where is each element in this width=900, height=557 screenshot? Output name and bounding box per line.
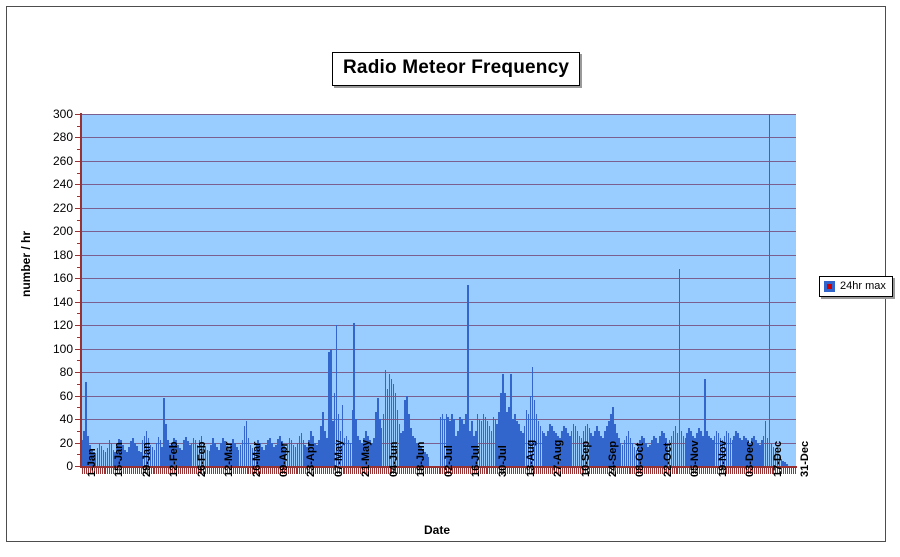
x-axis-day-tick xyxy=(209,468,210,474)
legend-label: 24hr max xyxy=(840,280,886,292)
y-axis-tick xyxy=(75,137,81,138)
x-axis-tick-label: 15-Jan xyxy=(113,442,125,477)
x-axis-day-tick xyxy=(186,468,187,474)
y-axis-minor-tick xyxy=(77,313,81,314)
y-axis-tick-label: 280 xyxy=(33,131,73,143)
x-axis-day-tick xyxy=(462,468,463,474)
x-axis-day-tick xyxy=(319,468,320,474)
x-axis-day-tick xyxy=(738,468,739,474)
x-axis-day-tick xyxy=(652,468,653,474)
y-axis-tick-label: 0 xyxy=(33,460,73,472)
x-axis-day-tick xyxy=(158,468,159,474)
x-axis-day-tick xyxy=(597,468,598,474)
x-axis-day-tick xyxy=(572,468,573,474)
x-axis-day-tick xyxy=(323,468,324,474)
x-axis-day-tick xyxy=(348,468,349,474)
y-axis-tick xyxy=(75,466,81,467)
x-axis-day-tick xyxy=(468,468,469,474)
x-axis-day-tick xyxy=(742,468,743,474)
x-axis-day-tick xyxy=(213,468,214,474)
x-axis-tick-label: 18-Jun xyxy=(415,442,427,477)
x-axis-day-tick xyxy=(703,468,704,474)
legend-marker-icon xyxy=(824,281,835,292)
x-axis-day-tick xyxy=(350,468,351,474)
x-axis-day-tick xyxy=(346,468,347,474)
x-axis-day-tick xyxy=(266,468,267,474)
x-axis-day-tick xyxy=(276,468,277,474)
x-axis-day-tick xyxy=(431,468,432,474)
x-axis-day-tick xyxy=(519,468,520,474)
x-axis-day-tick xyxy=(125,468,126,474)
bar xyxy=(769,114,771,466)
x-axis-day-tick xyxy=(162,468,163,474)
x-axis-day-tick xyxy=(458,468,459,474)
x-axis-day-tick xyxy=(154,468,155,474)
x-axis-day-tick xyxy=(268,468,269,474)
y-axis-tick xyxy=(75,161,81,162)
x-axis-day-tick xyxy=(215,468,216,474)
x-axis-day-tick xyxy=(658,468,659,474)
x-axis-day-tick xyxy=(190,468,191,474)
x-axis-day-tick xyxy=(660,468,661,474)
x-axis-day-tick xyxy=(732,468,733,474)
x-axis-day-tick xyxy=(787,468,788,474)
y-axis-tick-label: 200 xyxy=(33,225,73,237)
x-axis-day-tick xyxy=(711,468,712,474)
x-axis-tick-label: 04-Jun xyxy=(388,442,400,477)
x-axis-day-tick xyxy=(740,468,741,474)
x-axis-day-tick xyxy=(576,468,577,474)
x-axis-day-tick xyxy=(521,468,522,474)
y-axis-tick xyxy=(75,114,81,115)
x-axis-day-tick xyxy=(247,468,248,474)
y-axis-minor-tick xyxy=(77,149,81,150)
x-axis-tick-label: 31-Dec xyxy=(799,441,811,477)
x-axis-day-tick xyxy=(734,468,735,474)
x-axis-day-tick xyxy=(327,468,328,474)
x-axis-day-tick xyxy=(486,468,487,474)
x-axis-day-tick xyxy=(356,468,357,474)
x-axis-day-tick xyxy=(683,468,684,474)
x-axis-day-tick xyxy=(795,468,796,474)
x-axis-day-tick xyxy=(509,468,510,474)
x-axis-tick-label: 29-Jan xyxy=(141,442,153,477)
x-axis-day-tick xyxy=(707,468,708,474)
x-axis-day-tick xyxy=(566,468,567,474)
y-axis-tick-label: 220 xyxy=(33,202,73,214)
y-axis-minor-tick xyxy=(77,454,81,455)
x-axis-day-tick xyxy=(511,468,512,474)
x-axis-day-tick xyxy=(493,468,494,474)
y-axis-title: number / hr xyxy=(19,199,33,329)
x-axis-day-tick xyxy=(433,468,434,474)
y-axis-tick xyxy=(75,443,81,444)
bar-series-24hr-max xyxy=(81,114,796,466)
x-axis-day-tick xyxy=(180,468,181,474)
x-axis-day-tick xyxy=(517,468,518,474)
x-axis-day-tick xyxy=(758,468,759,474)
x-axis-day-tick xyxy=(325,468,326,474)
x-axis-day-tick xyxy=(384,468,385,474)
y-axis-tick-label: 80 xyxy=(33,366,73,378)
x-axis-day-tick xyxy=(329,468,330,474)
x-axis-day-tick xyxy=(685,468,686,474)
x-axis-day-tick xyxy=(648,468,649,474)
x-axis-day-tick xyxy=(713,468,714,474)
x-axis-day-tick xyxy=(491,468,492,474)
x-axis-day-tick xyxy=(578,468,579,474)
x-axis-tick-label: 08-Oct xyxy=(634,443,646,477)
x-axis-tick-label: 27-Aug xyxy=(552,440,564,477)
y-axis-minor-tick xyxy=(77,267,81,268)
x-axis-day-tick xyxy=(248,468,249,474)
x-axis-day-tick xyxy=(331,468,332,474)
y-axis-tick-label: 100 xyxy=(33,343,73,355)
x-axis-day-tick xyxy=(137,468,138,474)
y-axis-minor-tick xyxy=(77,196,81,197)
x-axis-day-tick xyxy=(221,468,222,474)
x-axis-day-tick xyxy=(237,468,238,474)
x-axis-day-tick xyxy=(405,468,406,474)
x-axis-day-tick xyxy=(621,468,622,474)
x-axis-day-tick xyxy=(429,468,430,474)
x-axis-day-tick xyxy=(570,468,571,474)
y-axis-tick xyxy=(75,302,81,303)
x-axis-day-tick xyxy=(386,468,387,474)
x-axis-tick-label: 05-Nov xyxy=(689,440,701,477)
x-axis-day-tick xyxy=(317,468,318,474)
x-axis-day-tick xyxy=(217,468,218,474)
x-axis-day-tick xyxy=(403,468,404,474)
x-axis-tick-label: 10-Sep xyxy=(580,441,592,477)
x-axis-day-tick xyxy=(129,468,130,474)
x-axis-day-tick xyxy=(464,468,465,474)
x-axis-day-tick xyxy=(542,468,543,474)
x-axis-tick-label: 13-Aug xyxy=(525,440,537,477)
y-axis-minor-tick xyxy=(77,126,81,127)
x-axis-day-tick xyxy=(164,468,165,474)
x-axis-day-tick xyxy=(601,468,602,474)
x-axis-day-tick xyxy=(523,468,524,474)
x-axis-day-tick xyxy=(109,468,110,474)
x-axis-tick-label: 24-Sep xyxy=(607,441,619,477)
x-axis-day-tick xyxy=(411,468,412,474)
x-axis-day-tick xyxy=(380,468,381,474)
x-axis-day-tick xyxy=(715,468,716,474)
bar xyxy=(428,457,430,466)
x-axis-day-tick xyxy=(372,468,373,474)
x-axis-day-tick xyxy=(623,468,624,474)
x-axis-tick-label: 12-Feb xyxy=(168,442,180,477)
x-axis-day-tick xyxy=(131,468,132,474)
y-axis-tick xyxy=(75,231,81,232)
x-axis-day-tick xyxy=(709,468,710,474)
x-axis-day-tick xyxy=(194,468,195,474)
chart-frame: Radio Meteor Frequency 02040608010012014… xyxy=(6,6,886,542)
x-axis-day-tick xyxy=(603,468,604,474)
y-axis-tick-label: 240 xyxy=(33,178,73,190)
x-axis-tick-label: 26-Feb xyxy=(196,442,208,477)
x-axis-day-tick xyxy=(440,468,441,474)
x-axis-day-tick xyxy=(595,468,596,474)
x-axis-day-tick xyxy=(294,468,295,474)
chart-legend: 24hr max xyxy=(819,276,893,297)
y-axis-tick-label: 40 xyxy=(33,413,73,425)
y-axis-minor-tick xyxy=(77,220,81,221)
page-title: Radio Meteor Frequency xyxy=(332,52,580,86)
x-axis-day-tick xyxy=(677,468,678,474)
x-axis-tick-label: 02-Jul xyxy=(443,445,455,477)
x-axis-day-tick xyxy=(760,468,761,474)
x-axis-day-tick xyxy=(785,468,786,474)
y-axis-minor-tick xyxy=(77,290,81,291)
x-axis-day-tick xyxy=(489,468,490,474)
x-axis-tick-label: 22-Oct xyxy=(662,443,674,477)
y-axis-labels: 0204060801001201401601802002202402602803… xyxy=(29,7,73,557)
x-axis-day-tick xyxy=(770,468,771,474)
x-axis-day-tick xyxy=(156,468,157,474)
x-axis-title: Date xyxy=(7,523,867,537)
x-axis-day-tick xyxy=(793,468,794,474)
x-axis-day-tick xyxy=(104,468,105,474)
x-axis-day-tick xyxy=(376,468,377,474)
y-axis-minor-tick xyxy=(77,431,81,432)
x-axis-day-tick xyxy=(764,468,765,474)
x-axis-day-tick xyxy=(466,468,467,474)
y-axis-tick-label: 20 xyxy=(33,437,73,449)
y-axis-minor-tick xyxy=(77,407,81,408)
y-axis-tick xyxy=(75,278,81,279)
x-axis-day-tick xyxy=(182,468,183,474)
x-axis-tick-label: 12-Mar xyxy=(223,442,235,477)
x-axis-tick-label: 09-Apr xyxy=(278,442,290,477)
x-axis-day-tick xyxy=(321,468,322,474)
x-axis-day-tick xyxy=(574,468,575,474)
x-axis-day-tick xyxy=(437,468,438,474)
x-axis-tick-label: 30-Jul xyxy=(497,445,509,477)
x-axis-day-tick xyxy=(564,468,565,474)
x-axis-day-tick xyxy=(292,468,293,474)
x-axis-day-tick xyxy=(676,468,677,474)
x-axis-day-tick xyxy=(568,468,569,474)
x-axis-day-tick xyxy=(654,468,655,474)
x-axis-day-tick xyxy=(382,468,383,474)
y-axis-tick xyxy=(75,419,81,420)
x-axis-day-tick xyxy=(102,468,103,474)
x-axis-day-tick xyxy=(413,468,414,474)
x-axis-day-tick xyxy=(211,468,212,474)
x-axis-day-tick xyxy=(460,468,461,474)
y-axis-tick xyxy=(75,325,81,326)
x-axis-day-tick xyxy=(401,468,402,474)
x-axis-day-tick xyxy=(605,468,606,474)
y-axis-tick xyxy=(75,184,81,185)
x-axis-day-tick xyxy=(374,468,375,474)
x-axis-day-tick xyxy=(107,468,108,474)
x-axis-day-tick xyxy=(768,468,769,474)
x-axis-day-tick xyxy=(484,468,485,474)
x-axis-day-tick xyxy=(625,468,626,474)
x-axis-day-tick xyxy=(192,468,193,474)
y-axis-tick xyxy=(75,255,81,256)
x-axis-day-tick xyxy=(546,468,547,474)
x-axis-day-tick xyxy=(627,468,628,474)
y-axis-tick-label: 140 xyxy=(33,296,73,308)
x-axis-day-tick xyxy=(550,468,551,474)
x-axis-day-tick xyxy=(301,468,302,474)
x-axis-day-tick xyxy=(219,468,220,474)
x-axis-day-tick xyxy=(239,468,240,474)
x-axis-day-tick xyxy=(435,468,436,474)
x-axis-day-tick xyxy=(270,468,271,474)
x-axis-day-tick xyxy=(766,468,767,474)
x-axis-day-tick xyxy=(513,468,514,474)
y-axis-minor-tick xyxy=(77,360,81,361)
x-axis-day-tick xyxy=(730,468,731,474)
x-axis-day-tick xyxy=(354,468,355,474)
y-axis-tick-label: 180 xyxy=(33,249,73,261)
x-axis-tick-label: 19-Nov xyxy=(717,440,729,477)
x-axis-day-tick xyxy=(762,468,763,474)
x-axis-tick-label: 03-Dec xyxy=(744,441,756,477)
x-axis-day-tick xyxy=(188,468,189,474)
x-axis-day-tick xyxy=(139,468,140,474)
x-axis-day-tick xyxy=(245,468,246,474)
x-axis-day-tick xyxy=(407,468,408,474)
x-axis-day-tick xyxy=(789,468,790,474)
x-axis-tick-label: 16-Jul xyxy=(470,445,482,477)
x-axis-day-tick xyxy=(296,468,297,474)
y-axis-minor-tick xyxy=(77,243,81,244)
x-axis-day-tick xyxy=(599,468,600,474)
x-axis-day-tick xyxy=(544,468,545,474)
y-axis-tick-label: 300 xyxy=(33,108,73,120)
x-axis-tick-label: 21-May xyxy=(360,440,372,477)
x-axis-tick-label: 1-Jan xyxy=(86,448,98,477)
y-axis-tick xyxy=(75,396,81,397)
x-axis-day-tick xyxy=(100,468,101,474)
x-axis-day-tick xyxy=(630,468,631,474)
x-axis-day-tick xyxy=(456,468,457,474)
x-axis-day-tick xyxy=(736,468,737,474)
x-axis-day-tick xyxy=(646,468,647,474)
y-axis-tick-label: 260 xyxy=(33,155,73,167)
x-axis-day-tick xyxy=(791,468,792,474)
x-axis-day-tick xyxy=(297,468,298,474)
x-axis-day-tick xyxy=(84,468,85,474)
x-axis-day-tick xyxy=(133,468,134,474)
x-axis-tick-label: 07-May xyxy=(333,440,345,477)
x-axis-day-tick xyxy=(299,468,300,474)
x-axis-day-tick xyxy=(274,468,275,474)
plot-area xyxy=(81,114,796,466)
x-axis-day-tick xyxy=(538,468,539,474)
x-axis-day-tick xyxy=(82,468,83,474)
x-axis-day-tick xyxy=(264,468,265,474)
x-axis-tick-label: 26-Mar xyxy=(251,442,263,477)
x-axis-day-tick xyxy=(127,468,128,474)
y-axis-tick xyxy=(75,208,81,209)
x-axis-day-tick xyxy=(540,468,541,474)
x-axis-day-tick xyxy=(409,468,410,474)
x-axis-tick-label: 23-Apr xyxy=(305,442,317,477)
y-axis-minor-tick xyxy=(77,173,81,174)
x-axis-day-tick xyxy=(243,468,244,474)
y-axis-tick xyxy=(75,349,81,350)
x-axis-day-tick xyxy=(439,468,440,474)
x-axis-day-tick xyxy=(515,468,516,474)
x-axis-tick-label: 17-Dec xyxy=(772,441,784,477)
x-axis-day-tick xyxy=(593,468,594,474)
x-axis-day-tick xyxy=(681,468,682,474)
y-axis-tick-label: 60 xyxy=(33,390,73,402)
x-axis-day-tick xyxy=(650,468,651,474)
x-axis-day-tick xyxy=(548,468,549,474)
x-axis-day-tick xyxy=(705,468,706,474)
x-axis-day-tick xyxy=(272,468,273,474)
x-axis-day-tick xyxy=(135,468,136,474)
x-axis-day-tick xyxy=(629,468,630,474)
y-axis-minor-tick xyxy=(77,337,81,338)
y-axis-tick-label: 160 xyxy=(33,272,73,284)
x-axis-day-tick xyxy=(241,468,242,474)
chart-screenshot: Radio Meteor Frequency 02040608010012014… xyxy=(0,0,900,557)
x-axis-day-tick xyxy=(656,468,657,474)
x-axis-day-tick xyxy=(701,468,702,474)
x-axis-day-tick xyxy=(487,468,488,474)
x-axis-day-tick xyxy=(378,468,379,474)
y-axis-minor-tick xyxy=(77,384,81,385)
y-axis-tick xyxy=(75,372,81,373)
x-axis-day-tick xyxy=(160,468,161,474)
x-axis-day-tick xyxy=(352,468,353,474)
x-axis-day-tick xyxy=(679,468,680,474)
x-axis-day-tick xyxy=(105,468,106,474)
x-axis-day-tick xyxy=(184,468,185,474)
y-axis-tick-label: 120 xyxy=(33,319,73,331)
